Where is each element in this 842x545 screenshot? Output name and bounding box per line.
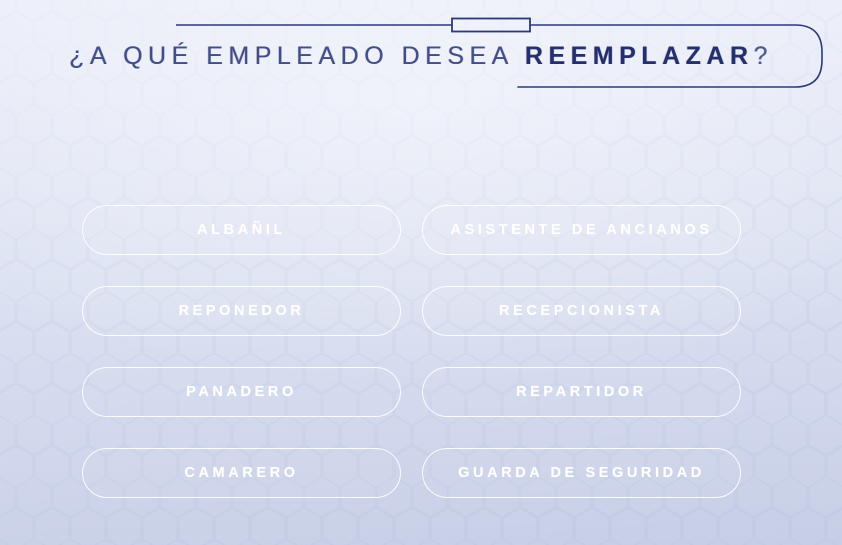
employee-options-grid: ALBAÑIL ASISTENTE DE ANCIANOS REPONEDOR … bbox=[82, 205, 741, 498]
question-suffix: ? bbox=[754, 42, 773, 70]
option-button-panadero[interactable]: PANADERO bbox=[82, 367, 401, 417]
app-root: ¿A QUÉ EMPLEADO DESEA REEMPLAZAR? ALBAÑI… bbox=[0, 0, 842, 545]
option-button-asistente-ancianos[interactable]: ASISTENTE DE ANCIANOS bbox=[422, 205, 741, 255]
option-button-recepcionista[interactable]: RECEPCIONISTA bbox=[422, 286, 741, 336]
question-prefix: ¿A QUÉ EMPLEADO DESEA bbox=[69, 42, 525, 70]
option-button-camarero[interactable]: CAMARERO bbox=[82, 448, 401, 498]
option-button-albanil[interactable]: ALBAÑIL bbox=[82, 205, 401, 255]
option-button-repartidor[interactable]: REPARTIDOR bbox=[422, 367, 741, 417]
option-button-reponedor[interactable]: REPONEDOR bbox=[82, 286, 401, 336]
page-title: ¿A QUÉ EMPLEADO DESEA REEMPLAZAR? bbox=[0, 36, 842, 76]
option-button-guarda-seguridad[interactable]: GUARDA DE SEGURIDAD bbox=[422, 448, 741, 498]
question-keyword: REEMPLAZAR bbox=[525, 42, 754, 70]
header-notch-tab bbox=[452, 19, 530, 32]
question-header: ¿A QUÉ EMPLEADO DESEA REEMPLAZAR? bbox=[0, 0, 842, 100]
